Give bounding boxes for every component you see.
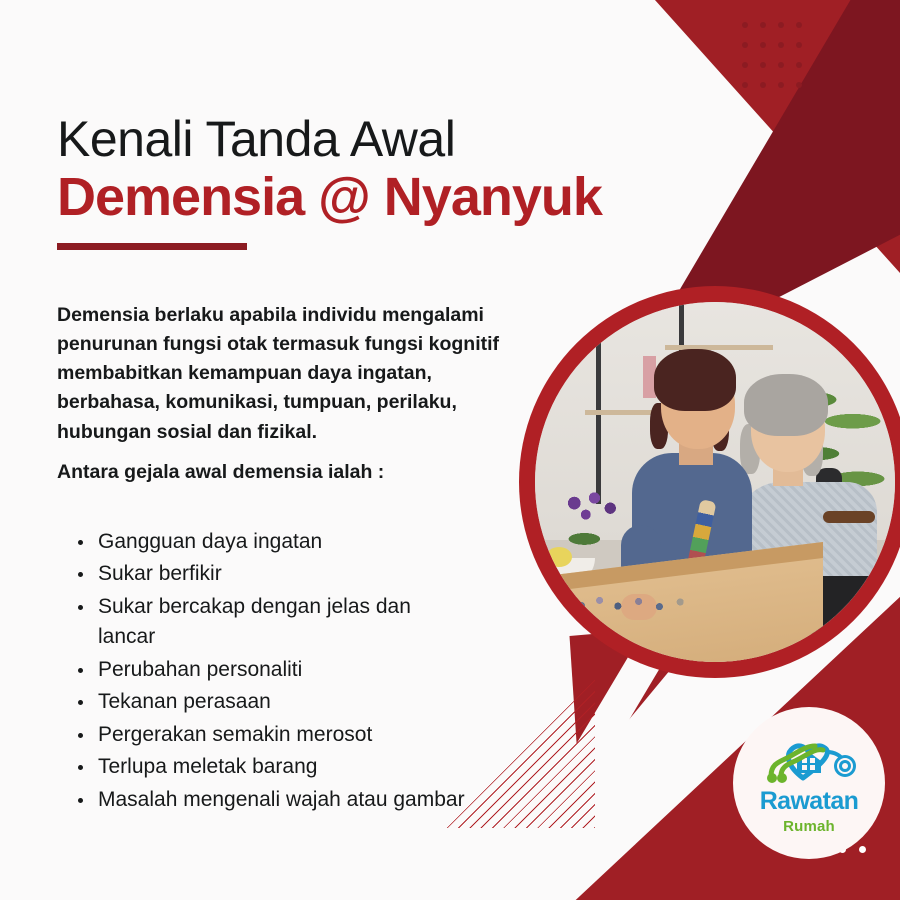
infographic-poster: Kenali Tanda Awal Demensia @ Nyanyuk Dem… <box>0 0 900 900</box>
grid-dot <box>742 22 748 28</box>
grid-dot <box>796 62 802 68</box>
logo-subname: Rumah <box>783 819 835 834</box>
grid-dot <box>760 82 766 88</box>
list-item: Sukar berfikir <box>72 559 472 589</box>
photo-circle-frame <box>519 286 900 678</box>
logo-name: Rawatan <box>760 789 859 814</box>
scene-wheelchair-armrest <box>823 511 875 523</box>
intro-paragraph: Demensia berlaku apabila individu mengal… <box>57 301 527 447</box>
scene-fruit <box>546 547 572 567</box>
symptoms-list: Gangguan daya ingatanSukar berfikirSukar… <box>72 527 472 817</box>
list-item: Perubahan personaliti <box>72 655 472 685</box>
grid-dot <box>760 62 766 68</box>
list-item: Sukar bercakap dengan jelas dan lancar <box>72 592 472 653</box>
scene-table-beads <box>571 590 701 616</box>
page-title-line-2: Demensia @ Nyanyuk <box>57 168 602 227</box>
grid-dot <box>778 42 784 48</box>
grid-dot <box>760 22 766 28</box>
dot-grid-decoration <box>742 22 814 102</box>
grid-dot <box>742 42 748 48</box>
grid-dot <box>742 62 748 68</box>
title-underline-rule <box>57 243 247 250</box>
list-item: Terlupa meletak barang <box>72 752 472 782</box>
grid-dot <box>796 42 802 48</box>
grid-dot <box>778 22 784 28</box>
list-item: Gangguan daya ingatan <box>72 527 472 557</box>
scene-elderly-hair <box>744 374 828 436</box>
grid-dot <box>796 22 802 28</box>
scene-flowers <box>557 489 629 553</box>
grid-dot <box>778 82 784 88</box>
white-dot <box>859 846 866 853</box>
rawatan-rumah-logo-icon <box>757 732 861 786</box>
grid-dot <box>760 42 766 48</box>
grid-dot <box>796 82 802 88</box>
logo-badge: Rawatan Rumah <box>733 707 885 859</box>
grid-dot <box>778 62 784 68</box>
page-title-line-1: Kenali Tanda Awal <box>57 112 602 166</box>
symptoms-subheading: Antara gejala awal demensia ialah : <box>57 458 417 487</box>
grid-dot <box>742 82 748 88</box>
caregiver-photo <box>535 302 895 662</box>
headline-block: Kenali Tanda Awal Demensia @ Nyanyuk <box>57 112 602 250</box>
scene-caregiver-hair <box>654 349 736 411</box>
list-item: Masalah mengenali wajah atau gambar <box>72 785 472 815</box>
list-item: Tekanan perasaan <box>72 687 472 717</box>
list-item: Pergerakan semakin merosot <box>72 720 472 750</box>
